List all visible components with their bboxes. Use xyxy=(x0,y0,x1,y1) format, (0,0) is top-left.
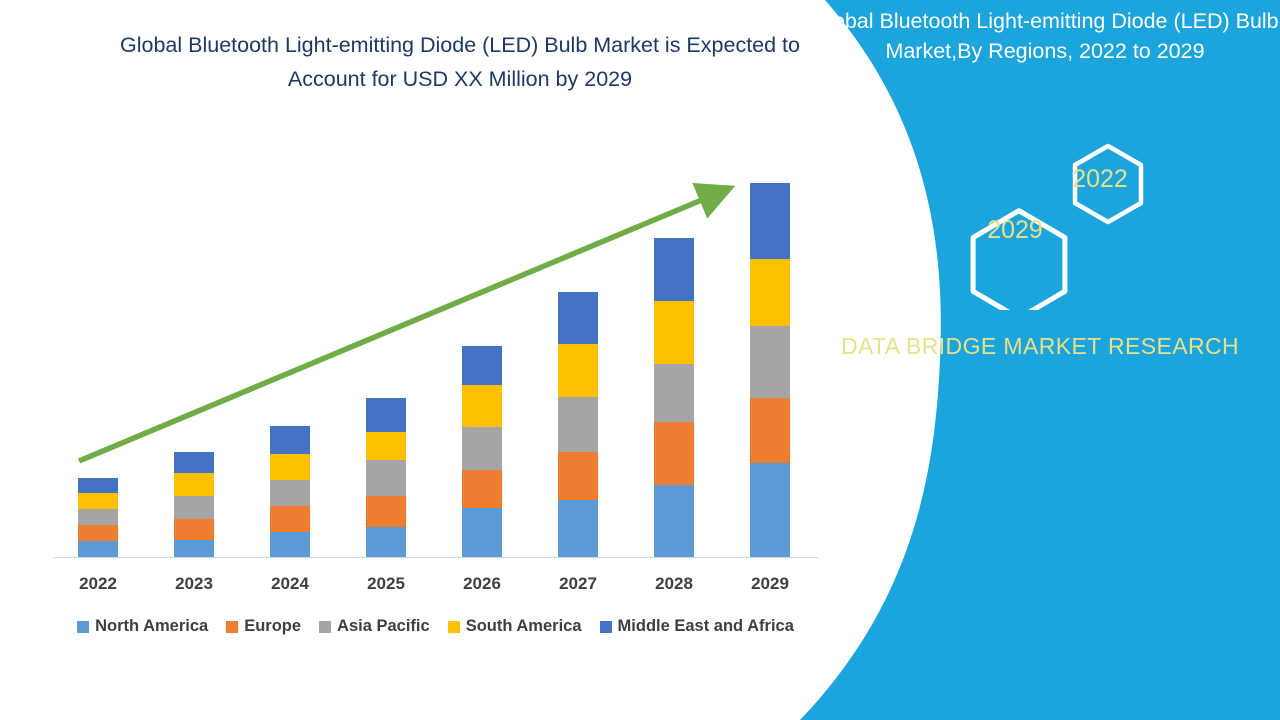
legend-swatch-icon xyxy=(448,621,460,633)
brand-panel: Global Bluetooth Light-emitting Diode (L… xyxy=(800,0,1280,720)
legend-label: Asia Pacific xyxy=(337,617,430,636)
hexagon-group: 2029 2022 xyxy=(940,140,1190,310)
legend-label: Europe xyxy=(244,617,301,636)
legend-swatch-icon xyxy=(226,621,238,633)
panel-title: Global Bluetooth Light-emitting Diode (L… xyxy=(810,6,1280,66)
legend-label: Middle East and Africa xyxy=(618,617,794,636)
legend-swatch-icon xyxy=(77,621,89,633)
legend-item-europe[interactable]: Europe xyxy=(226,617,301,636)
hexagon-label-2022: 2022 xyxy=(1050,165,1150,194)
panel-background-shape xyxy=(800,0,1280,720)
hexagon-outlines-icon xyxy=(940,140,1190,310)
legend-item-middle-east-and-africa[interactable]: Middle East and Africa xyxy=(600,617,794,636)
legend-label: South America xyxy=(466,617,582,636)
legend-label: North America xyxy=(95,617,208,636)
bar-chart: 20222023202420252026202720282029 xyxy=(0,0,860,600)
legend-item-asia-pacific[interactable]: Asia Pacific xyxy=(319,617,430,636)
legend-swatch-icon xyxy=(319,621,331,633)
legend-item-north-america[interactable]: North America xyxy=(77,617,208,636)
hexagon-label-2029: 2029 xyxy=(960,216,1070,245)
brand-name: DATA BRIDGE MARKET RESEARCH xyxy=(840,330,1240,363)
legend-swatch-icon xyxy=(600,621,612,633)
chart-legend: North AmericaEuropeAsia PacificSouth Ame… xyxy=(53,617,818,636)
legend-item-south-america[interactable]: South America xyxy=(448,617,582,636)
growth-arrow-icon xyxy=(0,0,860,600)
